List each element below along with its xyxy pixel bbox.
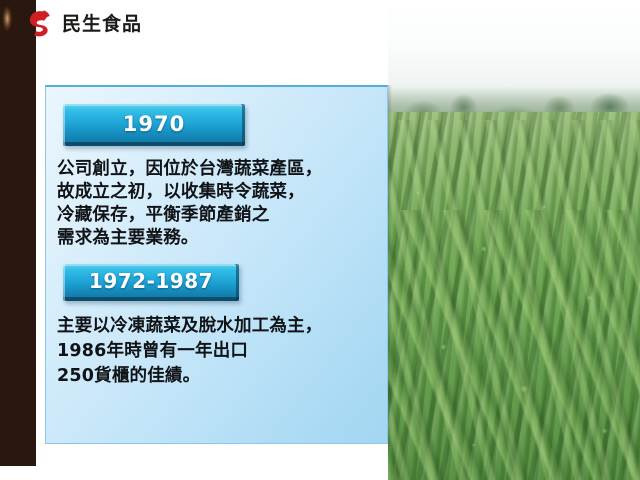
paragraph-line: 1986年時曾有一年出口 [57,339,387,364]
paragraph-line: 公司創立，因位於台灣蔬菜產區， [57,158,387,181]
vegetable-field-photo [388,0,640,480]
company-logo: 民生食品 [22,4,142,44]
year-badge-1970[interactable]: 1970 [63,104,245,146]
paragraph-line: 250貨櫃的佳績。 [57,364,387,389]
panel-drop-shadow [388,85,392,446]
paragraph-line: 故成立之初，以收集時令蔬菜， [57,181,387,204]
photo-leaf-highlights [388,130,640,480]
slide-canvas: 民生食品 1970 公司創立，因位於台灣蔬菜產區， 故成立之初，以收集時令蔬菜，… [0,0,640,480]
paragraph-line: 主要以冷凍蔬菜及脫水加工為主， [57,314,387,339]
year-badge-1972-1987[interactable]: 1972-1987 [63,264,239,301]
paragraph-line: 需求為主要業務。 [57,227,387,250]
paragraph-line: 冷藏保存，平衡季節產銷之 [57,204,387,227]
minsheng-swirl-logo-icon [22,7,56,41]
history-paragraph-1970: 公司創立，因位於台灣蔬菜產區， 故成立之初，以收集時令蔬菜， 冷藏保存，平衡季節… [57,158,387,250]
mixed-grain-strip [0,0,36,466]
history-panel: 1970 公司創立，因位於台灣蔬菜產區， 故成立之初，以收集時令蔬菜， 冷藏保存… [45,85,388,444]
history-paragraph-1972-1987: 主要以冷凍蔬菜及脫水加工為主， 1986年時曾有一年出口 250貨櫃的佳績。 [57,314,387,389]
company-name: 民生食品 [62,15,142,34]
